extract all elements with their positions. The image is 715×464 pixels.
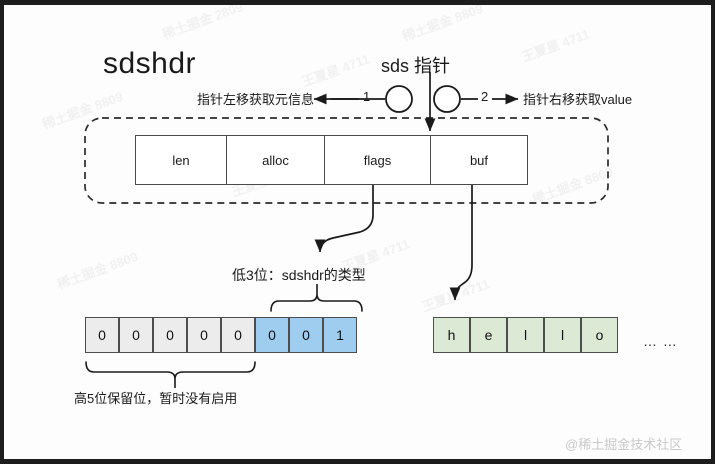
bit-cell: 0 <box>119 317 153 353</box>
struct-field-label: flags <box>364 153 391 168</box>
char-value: l <box>524 327 527 343</box>
bit-cell: 0 <box>187 317 221 353</box>
bit-value: 0 <box>132 327 140 343</box>
struct-field-label: alloc <box>262 153 289 168</box>
struct-field-len: len <box>135 135 227 185</box>
watermark-faint: 王夏星 4711 <box>419 273 492 315</box>
bit-cell: 0 <box>221 317 255 353</box>
bit-value: 0 <box>302 327 310 343</box>
right-shift-label: 指针右移获取value <box>523 89 632 108</box>
flags-connector <box>320 185 373 252</box>
char-value: e <box>485 327 493 343</box>
watermark-faint: 稀土掘金 8809 <box>54 246 140 293</box>
left-shift-label: 指针左移获取元信息 <box>197 89 314 108</box>
bit-value: 1 <box>336 327 344 343</box>
bit-value: 0 <box>234 327 242 343</box>
bit-value: 0 <box>166 327 174 343</box>
char-value: o <box>596 327 604 343</box>
bit-value: 0 <box>200 327 208 343</box>
watermark-faint: 稀土掘金 8809 <box>529 161 615 208</box>
page-title: sdshdr <box>103 47 196 81</box>
brand-watermark: @稀土掘金技术社区 <box>565 434 682 453</box>
char-value: h <box>448 327 456 343</box>
bit-value: 0 <box>98 327 106 343</box>
buf-ellipsis: … … <box>643 333 678 349</box>
char-cell: h <box>433 317 470 353</box>
buf-connector <box>455 185 472 300</box>
struct-field-alloc: alloc <box>226 135 325 185</box>
low-bits-brace <box>271 294 362 311</box>
pointer-node-one <box>386 86 412 112</box>
bit-value: 0 <box>268 327 276 343</box>
marker-two-label: 2 <box>481 89 488 104</box>
watermark-faint: 稀土掘金 2809 <box>159 0 245 43</box>
char-cell: l <box>507 317 544 353</box>
high-bits-label: 高5位保留位，暂时没有启用 <box>74 388 237 407</box>
watermark-faint: 王夏星 4711 <box>519 23 592 65</box>
marker-one-label: 1 <box>363 89 370 104</box>
watermark-faint: 王夏星 4711 <box>299 48 372 90</box>
char-cell: e <box>470 317 507 353</box>
struct-field-buf: buf <box>430 135 528 185</box>
bit-cell: 0 <box>289 317 323 353</box>
bit-cell: 0 <box>153 317 187 353</box>
char-cell: o <box>581 317 618 353</box>
char-value: l <box>561 327 564 343</box>
watermark-faint: 稀土掘金 8809 <box>39 86 125 133</box>
pointer-node-two <box>434 86 460 112</box>
watermark-faint: 稀土掘金 8809 <box>399 0 485 45</box>
char-cell: l <box>544 317 581 353</box>
low-bits-label: 低3位：sdshdr的类型 <box>232 265 366 285</box>
struct-field-flags: flags <box>324 135 431 185</box>
bit-cell: 0 <box>85 317 119 353</box>
high-bits-brace <box>86 362 255 379</box>
diagram-canvas: 稀土掘金 2809 稀土掘金 8809 王夏星 4711 王夏星 4711 稀土… <box>0 0 715 464</box>
bit-cell: 1 <box>323 317 357 353</box>
struct-field-label: len <box>172 153 189 168</box>
struct-field-label: buf <box>470 153 488 168</box>
bit-cell: 0 <box>255 317 289 353</box>
sds-pointer-title: sds 指针 <box>381 52 450 78</box>
